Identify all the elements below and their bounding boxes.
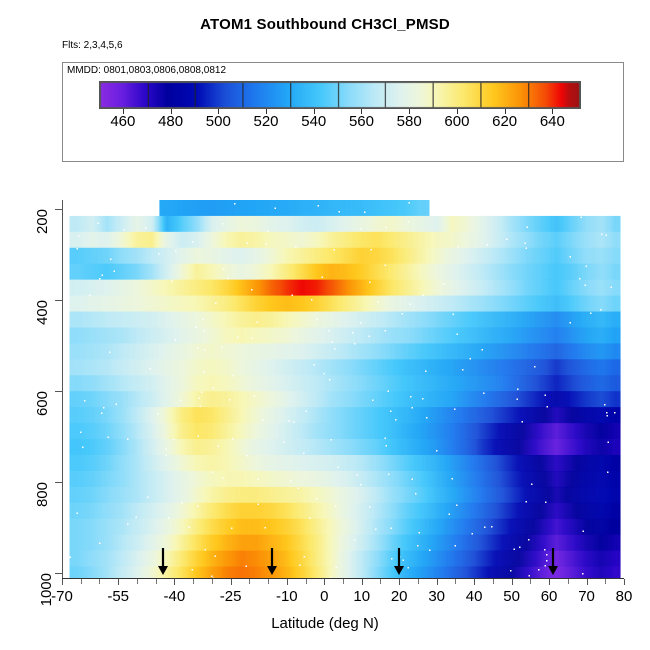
x-axis-tick: [624, 579, 625, 585]
x-axis-tick: [62, 579, 63, 585]
x-axis-tick-label: 0: [320, 588, 328, 605]
colorbar-tick-label: 500: [206, 113, 231, 130]
colorbar-tick-label: 540: [301, 113, 326, 130]
x-axis-minor-tick: [605, 579, 606, 584]
x-axis-minor-tick: [530, 579, 531, 584]
heatmap-plot-area: [62, 200, 624, 578]
x-axis-tick-label: -40: [164, 588, 186, 605]
x-axis-minor-tick: [249, 579, 250, 584]
y-axis-tick: [55, 300, 62, 301]
x-axis-tick: [174, 579, 175, 585]
colorbar-gradient: [99, 81, 581, 109]
x-axis-tick: [362, 579, 363, 585]
figure-root: ATOM1 Southbound CH3Cl_PMSD Flts: 2,3,4,…: [0, 0, 650, 650]
profile-arrow-marker: [157, 548, 169, 576]
x-axis-minor-tick: [455, 579, 456, 584]
x-axis-minor-tick: [418, 579, 419, 584]
x-axis-tick-label: 20: [391, 588, 408, 605]
x-axis-tick-label: 50: [503, 588, 520, 605]
y-axis-tick-label: 600: [34, 391, 51, 416]
x-axis-tick-label: 40: [466, 588, 483, 605]
colorbar-tick-label: 640: [540, 113, 565, 130]
x-axis-tick: [512, 579, 513, 585]
profile-arrow-marker: [266, 548, 278, 576]
x-axis-tick-label: 70: [578, 588, 595, 605]
x-axis-tick-label: -70: [51, 588, 73, 605]
x-axis-minor-tick: [212, 579, 213, 584]
y-axis-tick-label: 800: [34, 482, 51, 507]
colorbar-tick-label: 480: [158, 113, 183, 130]
colorbar-tick-label: 520: [254, 113, 279, 130]
mmdd-label: MMDD: 0801,0803,0806,0808,0812: [67, 65, 226, 76]
x-axis-minor-tick: [268, 579, 269, 584]
heatmap-image: [62, 200, 624, 578]
y-axis-tick: [55, 573, 62, 574]
y-axis-tick-label: 200: [34, 209, 51, 234]
x-axis-tick-label: -10: [276, 588, 298, 605]
x-axis-minor-tick: [193, 579, 194, 584]
x-axis-title: Latitude (deg N): [0, 615, 650, 632]
x-axis-tick-label: 60: [541, 588, 558, 605]
flights-label: Flts: 2,3,4,5,6: [62, 40, 123, 51]
colorbar-tick-label: 560: [349, 113, 374, 130]
x-axis-tick: [399, 579, 400, 585]
page-title: ATOM1 Southbound CH3Cl_PMSD: [0, 16, 650, 33]
x-axis-tick-label: 80: [616, 588, 633, 605]
y-axis-tick: [55, 482, 62, 483]
colorbar-tick-label: 600: [444, 113, 469, 130]
y-axis-tick: [55, 209, 62, 210]
x-axis-tick: [549, 579, 550, 585]
x-axis-minor-tick: [137, 579, 138, 584]
x-axis-tick-label: 30: [428, 588, 445, 605]
x-axis-minor-tick: [81, 579, 82, 584]
x-axis-minor-tick: [380, 579, 381, 584]
profile-arrow-marker: [393, 548, 405, 576]
profile-arrow-marker: [547, 548, 559, 576]
x-axis-tick-label: 10: [353, 588, 370, 605]
x-axis-tick: [287, 579, 288, 585]
x-axis-tick-label: -25: [220, 588, 242, 605]
y-axis-line: [62, 200, 63, 578]
x-axis-minor-tick: [493, 579, 494, 584]
x-axis-minor-tick: [306, 579, 307, 584]
colorbar-tick-label: 460: [110, 113, 135, 130]
x-axis-tick: [437, 579, 438, 585]
colorbar-tick-label: 580: [397, 113, 422, 130]
x-axis-tick: [118, 579, 119, 585]
y-axis-tick-label: 400: [34, 300, 51, 325]
x-axis-tick: [587, 579, 588, 585]
x-axis-minor-tick: [99, 579, 100, 584]
x-axis-minor-tick: [568, 579, 569, 584]
x-axis-tick: [324, 579, 325, 585]
y-axis-tick: [55, 391, 62, 392]
x-axis-minor-tick: [343, 579, 344, 584]
x-axis-minor-tick: [156, 579, 157, 584]
colorbar: [99, 81, 581, 109]
colorbar-tick-label: 620: [492, 113, 517, 130]
x-axis-tick-label: -55: [107, 588, 129, 605]
colorbar-tick-labels: 460480500520540560580600620640: [99, 113, 581, 135]
x-axis-tick: [231, 579, 232, 585]
x-axis-tick: [474, 579, 475, 585]
colorbar-legend-box: MMDD: 0801,0803,0806,0808,0812 460480500…: [62, 62, 624, 162]
